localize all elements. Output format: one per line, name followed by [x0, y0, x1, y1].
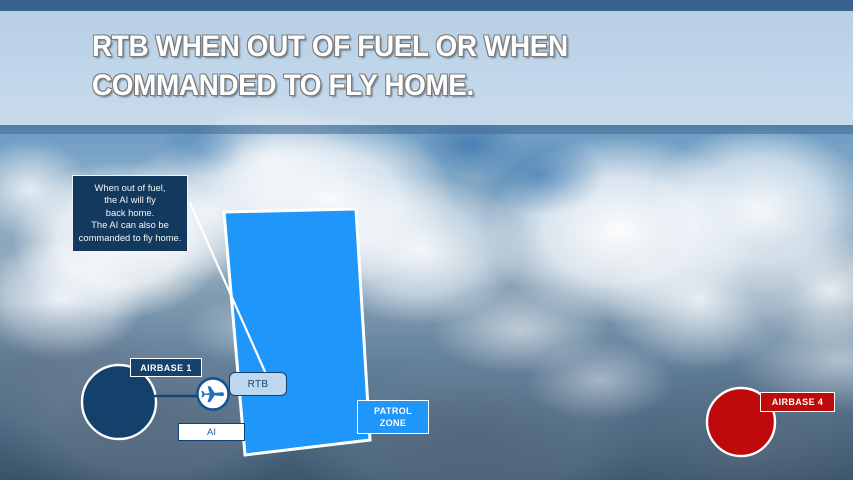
fighter-jet-icon[interactable]	[196, 377, 230, 411]
rtb-label[interactable]: RTB	[229, 372, 287, 396]
callout-line-5: commanded to fly home.	[78, 232, 182, 244]
patrol-zone-label-line2: ZONE	[380, 417, 407, 429]
ai-label[interactable]: AI	[178, 423, 245, 441]
airbase4-label[interactable]: AIRBASE 4	[760, 392, 835, 412]
callout-line-2: the AI will fly	[78, 194, 182, 206]
callout-box: When out of fuel, the AI will fly back h…	[72, 175, 188, 252]
slide-canvas: RTB WHEN OUT OF FUEL OR WHEN COMMANDED T…	[0, 0, 853, 480]
callout-line-1: When out of fuel,	[78, 182, 182, 194]
callout-line-4: The AI can also be	[78, 219, 182, 231]
airbase1-label[interactable]: AIRBASE 1	[130, 358, 202, 377]
patrol-zone-label[interactable]: PATROL ZONE	[357, 400, 429, 434]
patrol-zone-polygon[interactable]	[224, 209, 370, 455]
patrol-zone-label-line1: PATROL	[374, 405, 412, 417]
callout-line-3: back home.	[78, 207, 182, 219]
